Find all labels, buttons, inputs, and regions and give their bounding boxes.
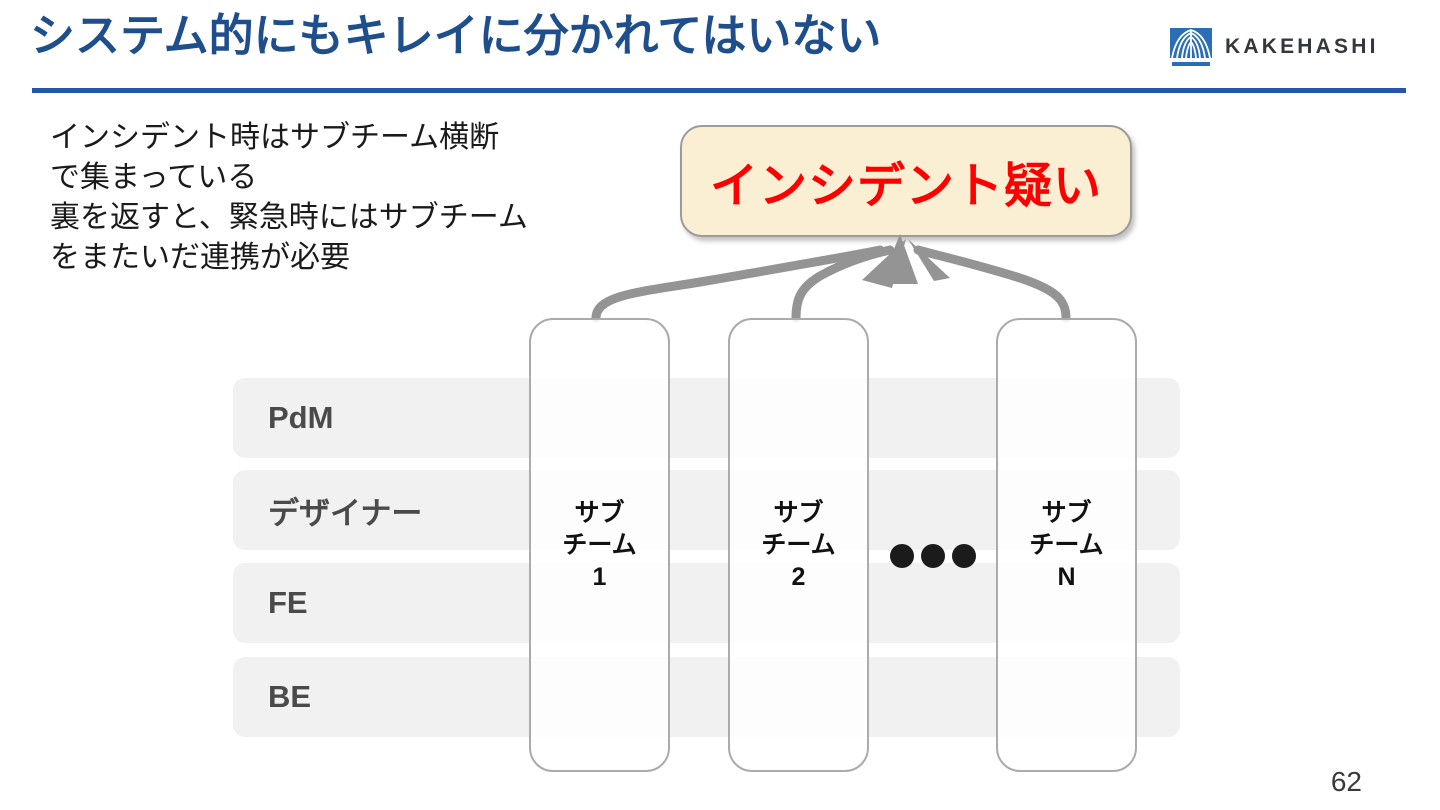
subteam-line2: チーム [1029, 529, 1103, 561]
slide-root: システム的にもキレイに分かれてはいない [0, 0, 1440, 810]
incident-callout: インシデント疑い [680, 125, 1132, 237]
subteam-column-n: サブ チーム N [996, 318, 1137, 772]
subteam-index: N [1057, 561, 1075, 593]
subteam-line1: サブ [574, 497, 624, 529]
page-number: 62 [1331, 766, 1362, 798]
title-divider [32, 88, 1406, 93]
subteam-line1: サブ [1041, 497, 1091, 529]
role-label: FE [268, 585, 308, 621]
page-title: システム的にもキレイに分かれてはいない [30, 10, 1130, 62]
ellipsis-dot [952, 544, 976, 568]
bridge-logo-icon [1168, 24, 1214, 70]
subteam-line1: サブ [773, 497, 823, 529]
role-label: PdM [268, 400, 333, 436]
subteam-line2: チーム [562, 529, 636, 561]
logo-wordmark: KAKEHASHI [1225, 35, 1379, 59]
subteam-column-1: サブ チーム 1 [529, 318, 670, 772]
ellipsis-dot [921, 544, 945, 568]
incident-label: インシデント疑い [710, 146, 1102, 216]
subteam-line2: チーム [761, 529, 835, 561]
ellipsis-dot [890, 544, 914, 568]
kakehashi-logo: KAKEHASHI [1168, 22, 1379, 72]
ellipsis-indicator [890, 543, 976, 569]
subteam-index: 2 [792, 561, 806, 593]
role-label: BE [268, 679, 311, 715]
subteam-index: 1 [593, 561, 607, 593]
role-label: デザイナー [268, 488, 422, 533]
lead-paragraph: インシデント時はサブチーム横断 で集まっている 裏を返すと、緊急時にはサブチーム… [50, 118, 670, 278]
subteam-column-2: サブ チーム 2 [728, 318, 869, 772]
